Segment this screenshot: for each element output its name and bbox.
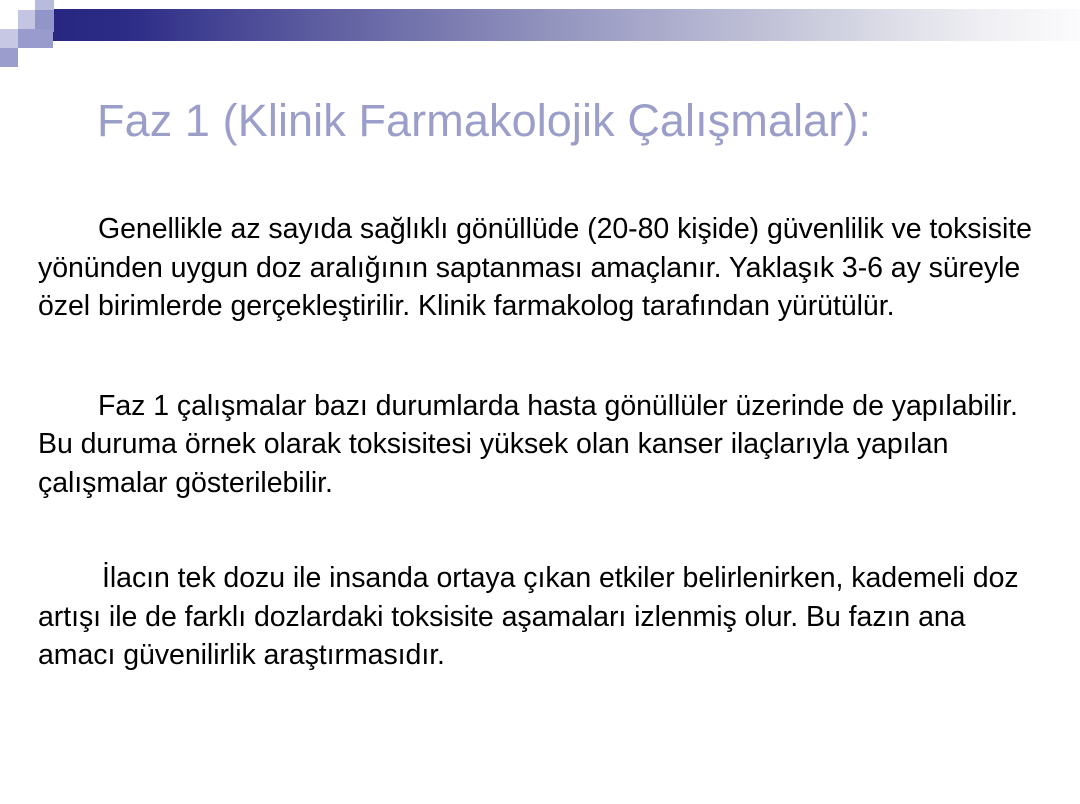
gradient-bar xyxy=(52,9,1080,41)
body-paragraph: Faz 1 çalışmalar bazı durumlarda hasta g… xyxy=(38,387,1042,503)
decor-square-mid-center xyxy=(18,29,53,48)
presentation-slide: Faz 1 (Klinik Farmakolojik Çalışmalar): … xyxy=(0,0,1080,804)
slide-body: Genellikle az sayıda sağlıklı gönüllüde … xyxy=(38,210,1042,675)
decor-square-pale-left xyxy=(0,29,18,48)
body-paragraph: Genellikle az sayıda sağlıklı gönüllüde … xyxy=(38,210,1042,326)
decor-square-pale-top xyxy=(35,0,54,10)
header-decoration xyxy=(0,0,1080,72)
body-paragraph: İlacın tek dozu ile insanda ortaya çıkan… xyxy=(38,559,1042,675)
decor-square-mid-lower xyxy=(0,48,18,67)
slide-title: Faz 1 (Klinik Farmakolojik Çalışmalar): xyxy=(97,97,1027,146)
